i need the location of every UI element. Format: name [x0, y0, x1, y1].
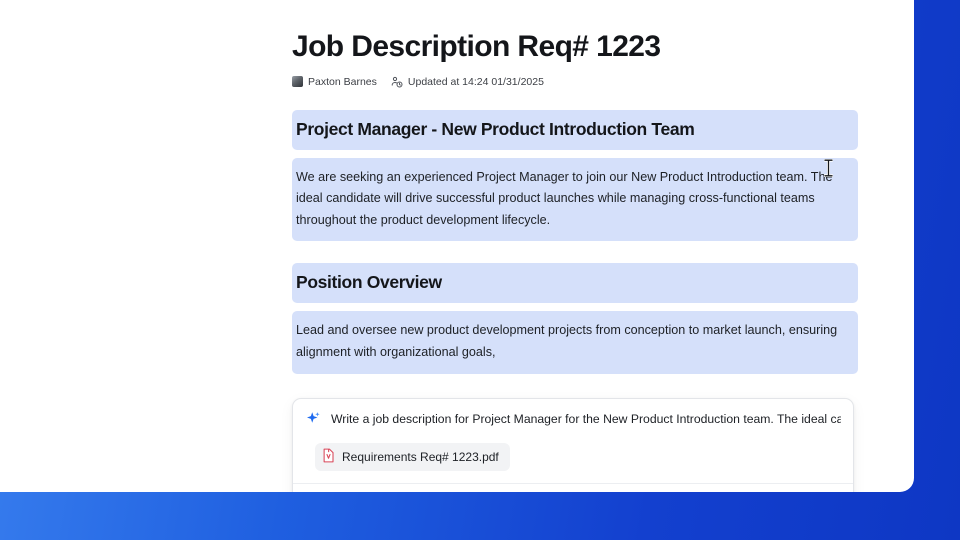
position-overview-paragraph[interactable]: Lead and oversee new product development…: [292, 311, 858, 373]
author-meta: Paxton Barnes: [292, 76, 377, 88]
attachment-chip[interactable]: Requirements Req# 1223.pdf: [315, 443, 510, 471]
user-activity-clock-icon: [391, 76, 403, 88]
document-meta-row: Paxton Barnes Updated at 14:24 01/31/202…: [292, 76, 858, 88]
ai-sparkle-icon: [305, 410, 322, 432]
document-panel: Job Description Req# 1223 Paxton Barnes …: [0, 0, 914, 492]
position-overview-heading-text: Position Overview: [292, 272, 858, 293]
position-overview-paragraph-text: Lead and oversee new product development…: [292, 320, 858, 363]
ai-assistant-card[interactable]: Write a job description for Project Mana…: [292, 398, 854, 492]
pdf-file-icon: [322, 448, 335, 466]
updated-timestamp: Updated at 14:24 01/31/2025: [408, 76, 544, 88]
ai-prompt-text: Write a job description for Project Mana…: [331, 410, 841, 427]
attachment-filename: Requirements Req# 1223.pdf: [342, 450, 499, 464]
document-content: Job Description Req# 1223 Paxton Barnes …: [292, 0, 858, 492]
avatar-photo-icon: [292, 76, 303, 87]
position-overview-heading[interactable]: Position Overview: [292, 263, 858, 303]
job-title-heading-text: Project Manager - New Product Introducti…: [292, 119, 858, 140]
ai-status-text: Working on it...: [293, 483, 853, 492]
job-intro-paragraph-text: We are seeking an experienced Project Ma…: [292, 167, 858, 232]
page-title: Job Description Req# 1223: [292, 30, 858, 65]
job-title-heading[interactable]: Project Manager - New Product Introducti…: [292, 110, 858, 150]
updated-meta: Updated at 14:24 01/31/2025: [391, 76, 544, 88]
ai-card-body: Write a job description for Project Mana…: [293, 399, 853, 483]
ai-prompt-row: Write a job description for Project Mana…: [305, 410, 841, 432]
author-name: Paxton Barnes: [308, 76, 377, 88]
job-intro-paragraph[interactable]: We are seeking an experienced Project Ma…: [292, 158, 858, 242]
